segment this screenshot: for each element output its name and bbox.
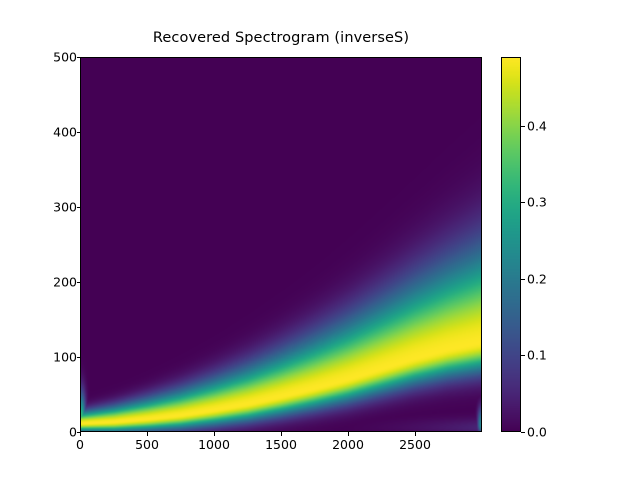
y-tick-label: 0 — [69, 425, 77, 440]
colorbar-tick-label: 0.2 — [527, 271, 547, 286]
colorbar-tick-mark — [521, 432, 525, 433]
x-tick-label: 2000 — [332, 437, 364, 452]
x-tick-label: 500 — [135, 437, 159, 452]
colorbar-tick-mark — [521, 279, 525, 280]
spectrogram-axes — [80, 57, 482, 432]
x-tick-mark — [281, 432, 282, 436]
colorbar-tick-mark — [521, 202, 525, 203]
y-tick-label: 300 — [53, 200, 77, 215]
x-tick-mark — [348, 432, 349, 436]
page-title: Recovered Spectrogram (inverseS) — [80, 30, 482, 46]
x-tick-mark — [80, 432, 81, 436]
colorbar-tick-label: 0.4 — [527, 118, 547, 133]
colorbar — [501, 57, 521, 432]
x-tick-label: 1000 — [198, 437, 230, 452]
x-tick-label: 2500 — [399, 437, 431, 452]
y-tick-label: 100 — [53, 350, 77, 365]
y-tick-label: 500 — [53, 50, 77, 65]
colorbar-tick-label: 0.1 — [527, 348, 547, 363]
colorbar-tick-mark — [521, 355, 525, 356]
x-tick-mark — [415, 432, 416, 436]
colorbar-tick-label: 0.0 — [527, 425, 547, 440]
x-tick-mark — [214, 432, 215, 436]
colorbar-gradient — [502, 58, 520, 431]
colorbar-tick-mark — [521, 126, 525, 127]
x-tick-label: 0 — [76, 437, 84, 452]
x-tick-label: 1500 — [265, 437, 297, 452]
x-tick-mark — [147, 432, 148, 436]
colorbar-tick-label: 0.3 — [527, 195, 547, 210]
spectrogram-image — [81, 58, 481, 431]
matplotlib-figure: Recovered Spectrogram (inverseS) 0500100… — [0, 0, 640, 480]
y-tick-label: 400 — [53, 125, 77, 140]
y-tick-label: 200 — [53, 275, 77, 290]
